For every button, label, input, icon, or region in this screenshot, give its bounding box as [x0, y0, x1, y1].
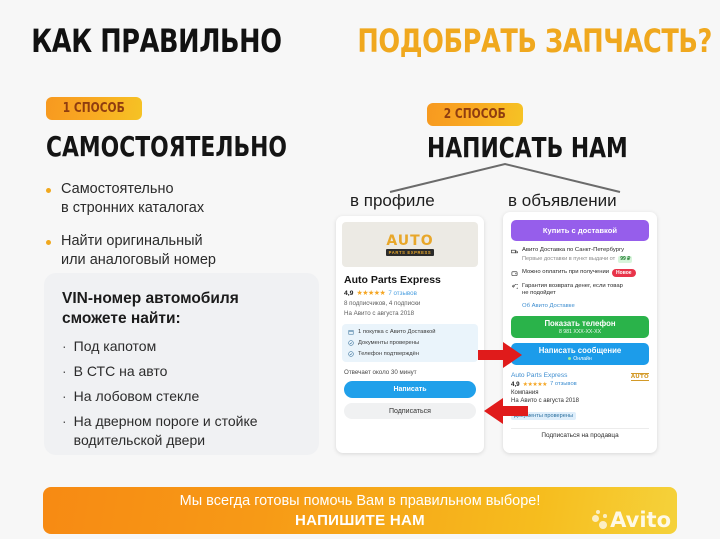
- buy-with-delivery-button[interactable]: Купить с доставкой: [511, 220, 649, 241]
- dash-bullet-icon: ·: [62, 387, 67, 406]
- list-item-label: Телефон подтверждён: [358, 351, 419, 357]
- guarantee-text: Гарантия возврата денег, если товар не п…: [522, 283, 623, 298]
- method-one-pill-label: 1 СПОСОБ: [63, 101, 125, 116]
- dash-bullet-icon: ·: [62, 362, 67, 381]
- list-item-label: Под капотом: [74, 337, 157, 356]
- list-item: · В СТС на авто: [62, 362, 301, 381]
- branch-label-ad: в объявлении: [508, 191, 617, 211]
- method-one-bullet-list: Самостоятельно в стронних каталогах Найт…: [46, 180, 311, 284]
- dash-bullet-icon: ·: [62, 412, 67, 431]
- follow-button[interactable]: Подписаться: [344, 403, 476, 419]
- bullet-dot-icon: [46, 188, 51, 193]
- avito-dots-icon: [592, 510, 608, 530]
- seller-logo-icon: AUTO: [631, 373, 649, 381]
- list-item-label: 1 покупка с Авито Доставкой: [358, 329, 436, 335]
- list-item-label: На дверном пороге и стойке водительской …: [74, 412, 258, 450]
- list-item-label: В СТС на авто: [74, 362, 168, 381]
- method-two-pill: 2 СПОСОБ: [427, 103, 523, 126]
- logo-sub-text: PARTS EXPRESS: [386, 249, 435, 256]
- method-two-pill-label: 2 СПОСОБ: [444, 107, 506, 122]
- guarantee-row: Гарантия возврата денег, если товар не п…: [511, 283, 649, 298]
- method-one-heading-text: САМОСТОЯТЕЛЬНО: [46, 130, 287, 163]
- show-phone-label: Показать телефон: [544, 319, 615, 328]
- delivery-price-badge: 99 ₽: [618, 256, 632, 263]
- star-rating-icon: ★★★★★: [523, 381, 547, 388]
- about-delivery-link[interactable]: Об Авито Доставке: [522, 303, 649, 309]
- list-item: Найти оригинальный или аналоговый номер: [46, 232, 311, 270]
- write-message-label: Написать сообщение: [539, 346, 621, 355]
- list-item: Самостоятельно в стронних каталогах: [46, 180, 311, 218]
- vin-info-card: VIN-номер автомобиля сможете найти: · По…: [44, 273, 319, 455]
- pointer-arrow-icon: [478, 342, 522, 368]
- profile-rating-value: 4,9: [344, 290, 353, 297]
- cta-banner-line2: НАПИШИТЕ НАМ: [295, 512, 425, 529]
- write-message-button[interactable]: Написать сообщение Онлайн: [511, 343, 649, 365]
- truck-icon: [511, 248, 518, 255]
- seller-since: На Авито с августа 2018: [511, 398, 649, 404]
- seller-rating: 4,9 ★★★★★ 7 отзывов: [511, 381, 649, 388]
- online-status-label: Онлайн: [573, 356, 592, 362]
- avito-wordmark: Avito: [610, 510, 671, 530]
- method-two-heading: НАПИСАТЬ НАМ: [427, 131, 684, 164]
- list-item: · На дверном пороге и стойке водительско…: [62, 412, 301, 450]
- profile-followers: 8 подписчиков, 4 подписки: [344, 300, 476, 307]
- method-two-heading-text: НАПИСАТЬ НАМ: [427, 131, 628, 164]
- cta-banner-line1: Мы всегда готовы помочь Вам в правильном…: [180, 493, 541, 509]
- profile-reviews-link[interactable]: 7 отзывов: [388, 290, 417, 297]
- dash-bullet-icon: ·: [62, 337, 67, 356]
- return-arrow-icon: [511, 284, 518, 291]
- branch-label-profile: в профиле: [350, 191, 435, 211]
- page-title-part-1: КАК ПРАВИЛЬНО: [31, 22, 281, 60]
- seller-name-link[interactable]: Auto Parts Express: [511, 372, 649, 379]
- profile-badge-list: 1 покупка с Авито Доставкой Документы пр…: [342, 324, 478, 362]
- seller-reviews-link[interactable]: 7 отзывов: [550, 381, 577, 387]
- phone-masked: 8 981 XXX-XX-XX: [559, 329, 601, 335]
- delivery-title: Авито Доставка по Санкт-Петербургу: [522, 247, 632, 255]
- method-one-pill: 1 СПОСОБ: [46, 97, 142, 120]
- delivery-box-icon: [348, 329, 354, 335]
- online-status: Онлайн: [568, 356, 592, 362]
- list-item-label: Найти оригинальный или аналоговый номер: [61, 232, 216, 270]
- bullet-dot-icon: [46, 240, 51, 245]
- pay-on-receive-row: Можно оплатить при получении Новое: [511, 269, 649, 277]
- seller-type: Компания: [511, 390, 649, 396]
- profile-since: На Авито с августа 2018: [344, 310, 476, 317]
- list-item: 1 покупка с Авито Доставкой: [348, 329, 472, 335]
- profile-name: Auto Parts Express: [344, 274, 476, 286]
- list-item-label: Документы проверены: [358, 340, 419, 346]
- page-title: КАК ПРАВИЛЬНО ПОДОБРАТЬ ЗАПЧАСТЬ?: [0, 22, 720, 60]
- page-title-part-2: ПОДОБРАТЬ ЗАПЧАСТЬ?: [357, 22, 712, 60]
- vin-card-title: VIN-номер автомобиля сможете найти:: [62, 289, 301, 329]
- profile-rating: 4,9 ★★★★★ 7 отзывов: [344, 289, 476, 297]
- online-dot-icon: [568, 357, 571, 360]
- check-circle-icon: [348, 351, 354, 357]
- list-item: Телефон подтверждён: [348, 351, 472, 357]
- method-one-heading: САМОСТОЯТЕЛЬНО: [46, 130, 355, 163]
- wallet-icon: [511, 270, 518, 277]
- write-button[interactable]: Написать: [344, 381, 476, 398]
- show-phone-button[interactable]: Показать телефон 8 981 XXX-XX-XX: [511, 316, 649, 338]
- list-item: · На лобовом стекле: [62, 387, 301, 406]
- new-badge: Новое: [612, 269, 636, 277]
- list-item: Документы проверены: [348, 340, 472, 346]
- pointer-arrow-icon: [484, 398, 528, 424]
- seller-logo-avatar: AUTO PARTS EXPRESS: [342, 222, 478, 267]
- check-circle-icon: [348, 340, 354, 346]
- star-rating-icon: ★★★★★: [356, 289, 385, 297]
- delivery-info-row: Авито Доставка по Санкт-Петербургу Первы…: [511, 247, 649, 263]
- list-item: · Под капотом: [62, 337, 301, 356]
- cta-banner: Мы всегда готовы помочь Вам в правильном…: [43, 487, 677, 534]
- branch-connector: [380, 162, 630, 194]
- delivery-subtitle-text: Первые доставки в пункт выдачи от: [522, 256, 615, 262]
- seller-rating-value: 4,9: [511, 381, 520, 388]
- logo-main-text: AUTO: [386, 234, 433, 248]
- seller-info-block: Auto Parts Express 4,9 ★★★★★ 7 отзывов К…: [511, 372, 649, 422]
- pay-on-receive-text: Можно оплатить при получении: [522, 269, 609, 277]
- profile-mock-card: AUTO PARTS EXPRESS Auto Parts Express 4,…: [336, 216, 484, 453]
- list-item-label: Самостоятельно в стронних каталогах: [61, 180, 204, 218]
- follow-seller-button[interactable]: Подписаться на продавца: [511, 428, 649, 443]
- profile-answer-time: Отвечает около 30 минут: [344, 369, 476, 376]
- list-item-label: На лобовом стекле: [74, 387, 200, 406]
- delivery-subtitle: Первые доставки в пункт выдачи от 99 ₽: [522, 256, 632, 263]
- avito-watermark: Avito: [592, 510, 671, 530]
- infographic-canvas: КАК ПРАВИЛЬНО ПОДОБРАТЬ ЗАПЧАСТЬ? 1 СПОС…: [0, 0, 720, 539]
